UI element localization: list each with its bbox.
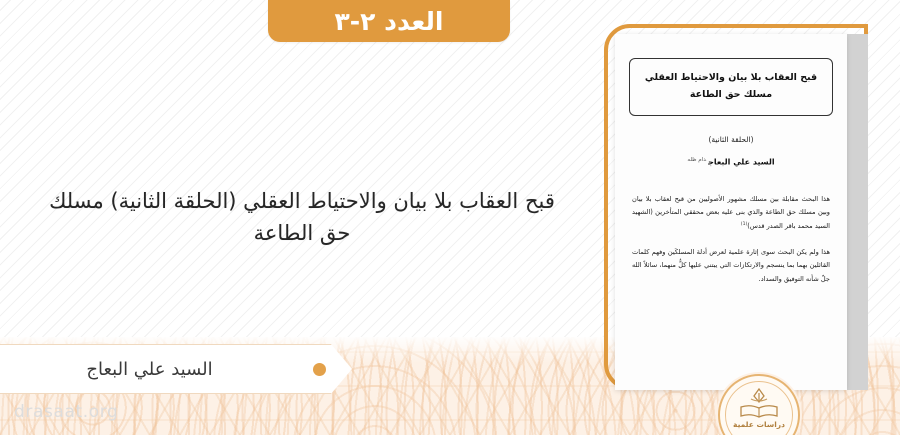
- issue-number-label: العدد ٢-٣: [335, 7, 444, 36]
- document-body: هذا البحث مقابلة بين مسلك مشهور الأصوليي…: [632, 193, 830, 286]
- site-watermark: drasaat.org: [14, 402, 118, 422]
- document-author-name: السيد علي البعاج: [708, 158, 774, 167]
- document-preview-page[interactable]: قبح العقاب بلا بيان والاحتياط العقلي مسل…: [615, 34, 847, 390]
- issue-number-tab[interactable]: العدد ٢-٣: [268, 0, 510, 42]
- document-title-box: قبح العقاب بلا بيان والاحتياط العقلي مسل…: [629, 58, 833, 116]
- book-and-pen-icon: [720, 387, 798, 421]
- document-paragraph-2: هذا ولم يكن البحث سوى إثارة علمية لعرض أ…: [632, 246, 830, 287]
- document-title-line-2: مسلك حق الطاعة: [639, 87, 823, 104]
- document-paragraph-1-text: هذا البحث مقابلة بين مسلك مشهور الأصوليي…: [632, 195, 830, 230]
- seal-caption: دراسات علمية: [720, 420, 798, 429]
- document-paragraph-1: هذا البحث مقابلة بين مسلك مشهور الأصوليي…: [632, 193, 830, 234]
- document-author: السيد علي البعاجدام ظله: [615, 157, 847, 167]
- article-author-name[interactable]: السيد علي البعاج: [14, 359, 313, 380]
- article-title: قبح العقاب بلا بيان والاحتياط العقلي (ال…: [47, 186, 557, 249]
- bullet-icon: [313, 363, 326, 376]
- author-band: السيد علي البعاج: [0, 344, 352, 394]
- document-title-line-1: قبح العقاب بلا بيان والاحتياط العقلي: [639, 70, 823, 87]
- document-episode-label: (الحلقة الثانية): [615, 135, 847, 144]
- document-author-honorific: دام ظله: [687, 157, 706, 163]
- article-card-canvas: العدد ٢-٣ قبح العقاب بلا بيان والاحتياط …: [0, 0, 900, 435]
